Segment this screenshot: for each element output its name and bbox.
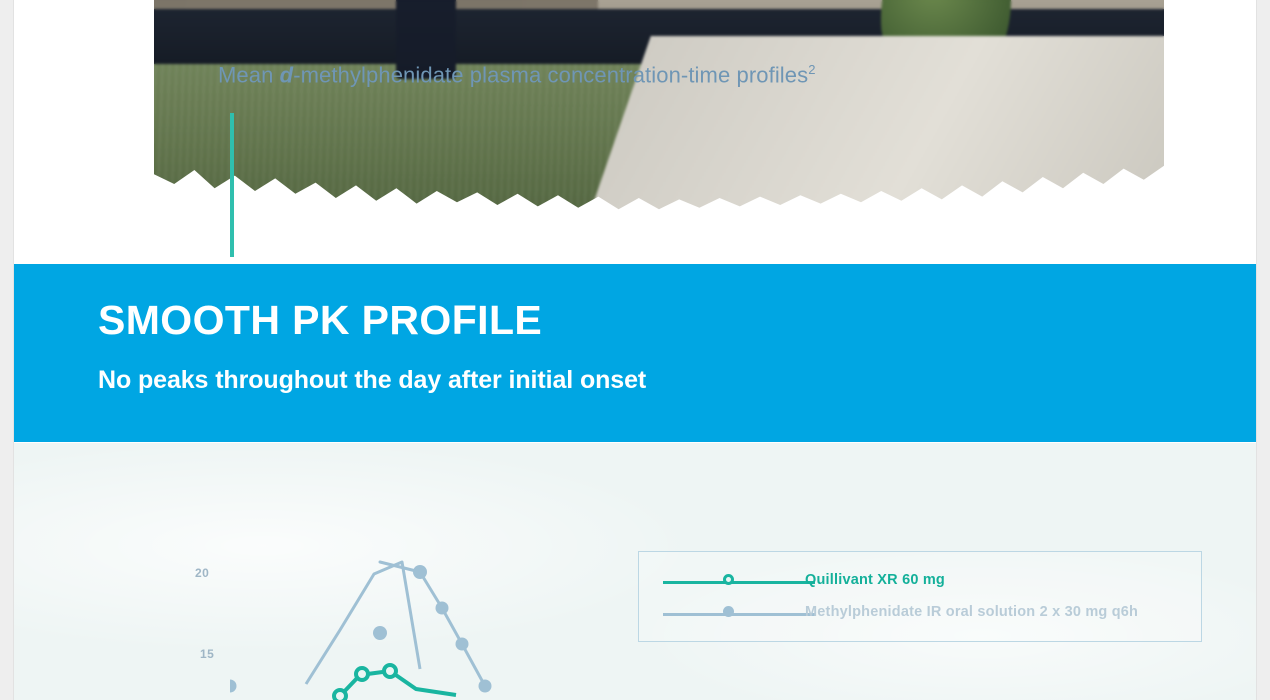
chart-title-reference: 2 bbox=[808, 62, 815, 77]
legend-line-icon bbox=[663, 581, 815, 584]
y-axis-line bbox=[230, 113, 234, 257]
legend-label-quillivant: Quillivant XR 60 mg bbox=[805, 572, 945, 588]
section-banner: SMOOTH PK PROFILE No peaks throughout th… bbox=[14, 264, 1256, 442]
y-tick-20: 20 bbox=[195, 566, 209, 580]
chart-legend: Quillivant XR 60 mg Methylphenidate IR o… bbox=[638, 551, 1202, 642]
legend-item-quillivant: Quillivant XR 60 mg bbox=[639, 568, 1201, 598]
photo-blur-overlay bbox=[154, 0, 1164, 212]
document-page: SMOOTH PK PROFILE No peaks throughout th… bbox=[14, 0, 1256, 700]
legend-open-circle-icon bbox=[723, 574, 734, 585]
chart-title-italic: d bbox=[280, 62, 294, 87]
page-title: SMOOTH PK PROFILE bbox=[98, 300, 542, 341]
legend-label-methylphenidate-ir: Methylphenidate IR oral solution 2 x 30 … bbox=[805, 604, 1138, 620]
y-tick-15: 15 bbox=[200, 647, 214, 661]
page-subtitle: No peaks throughout the day after initia… bbox=[98, 368, 646, 393]
legend-item-methylphenidate-ir: Methylphenidate IR oral solution 2 x 30 … bbox=[639, 600, 1201, 630]
chart-title-rest: -methylphenidate plasma concentration-ti… bbox=[293, 62, 808, 87]
chart-title: Mean d-methylphenidate plasma concentrat… bbox=[218, 62, 816, 88]
photo-image bbox=[154, 0, 1164, 212]
legend-line-icon bbox=[663, 613, 815, 616]
series-markers-quillivant-xr bbox=[334, 665, 396, 700]
legend-filled-circle-icon bbox=[723, 606, 734, 617]
chart-title-prefix: Mean bbox=[218, 62, 280, 87]
series-line-methylphenidate-ir bbox=[306, 562, 420, 684]
hero-photo bbox=[14, 0, 1256, 220]
